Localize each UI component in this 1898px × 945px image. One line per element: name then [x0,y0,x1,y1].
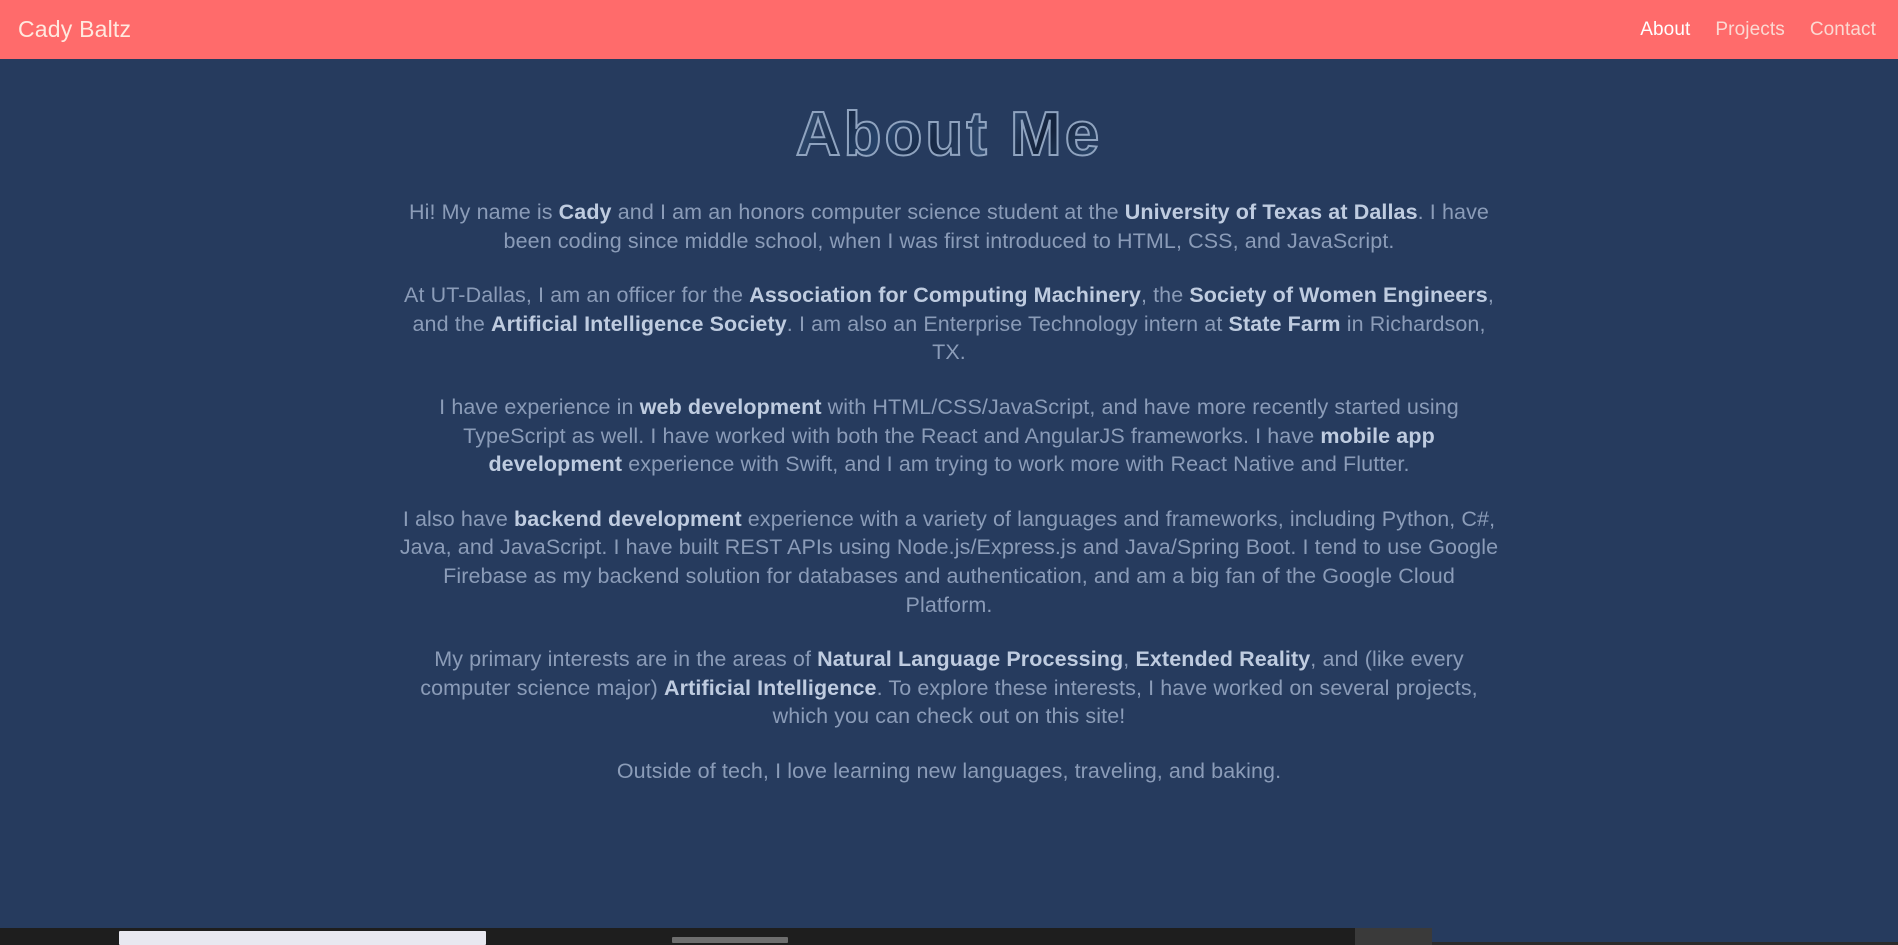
about-paragraph-backend-experience: I also have backend development experien… [399,505,1499,619]
body-text: experience with Swift, and I am trying t… [622,452,1409,476]
horizontal-scrollbar[interactable] [0,928,1432,945]
about-paragraph-intro: Hi! My name is Cady and I am an honors c… [399,198,1499,255]
emphasis-text: Association for Computing Machinery [749,283,1141,307]
scrollbar-segment [1355,928,1432,945]
body-text: My primary interests are in the areas of [434,647,817,671]
emphasis-text: backend development [514,507,742,531]
emphasis-text: Natural Language Processing [817,647,1123,671]
emphasis-text: Artificial Intelligence Society [491,312,787,336]
body-text: , the [1141,283,1189,307]
body-text: . To explore these interests, I have wor… [773,676,1478,729]
about-paragraph-hobbies: Outside of tech, I love learning new lan… [399,757,1499,786]
page-body: About Me Hi! My name is Cady and I am an… [0,59,1898,945]
body-text: Hi! My name is [409,200,559,224]
emphasis-text: web development [640,395,822,419]
body-text: At UT-Dallas, I am an officer for the [404,283,749,307]
about-paragraph-organizations: At UT-Dallas, I am an officer for the As… [399,281,1499,367]
body-text: I also have [403,507,514,531]
body-text: and I am an honors computer science stud… [612,200,1125,224]
body-text: Outside of tech, I love learning new lan… [617,759,1281,783]
primary-navigation: About Projects Contact [1640,20,1876,39]
nav-link-projects[interactable]: Projects [1715,20,1784,39]
emphasis-text: Society of Women Engineers [1189,283,1488,307]
top-navbar: Cady Baltz About Projects Contact [0,0,1898,59]
about-paragraph-frontend-experience: I have experience in web development wit… [399,393,1499,479]
about-paragraph-interests: My primary interests are in the areas of… [399,645,1499,731]
emphasis-text: University of Texas at Dallas [1125,200,1418,224]
emphasis-text: State Farm [1229,312,1341,336]
scrollbar-thumb[interactable] [119,931,486,945]
emphasis-text: Artificial Intelligence [664,676,877,700]
about-section: About Me Hi! My name is Cady and I am an… [399,59,1499,786]
body-text: . I am also an Enterprise Technology int… [787,312,1229,336]
body-text: , [1123,647,1135,671]
emphasis-text: Extended Reality [1135,647,1310,671]
nav-link-about[interactable]: About [1640,20,1690,39]
page-title: About Me [796,104,1102,166]
emphasis-text: Cady [559,200,612,224]
scrollbar-secondary-thumb[interactable] [672,937,788,943]
brand-logo[interactable]: Cady Baltz [18,18,131,41]
body-text: I have experience in [439,395,640,419]
nav-link-contact[interactable]: Contact [1810,20,1876,39]
